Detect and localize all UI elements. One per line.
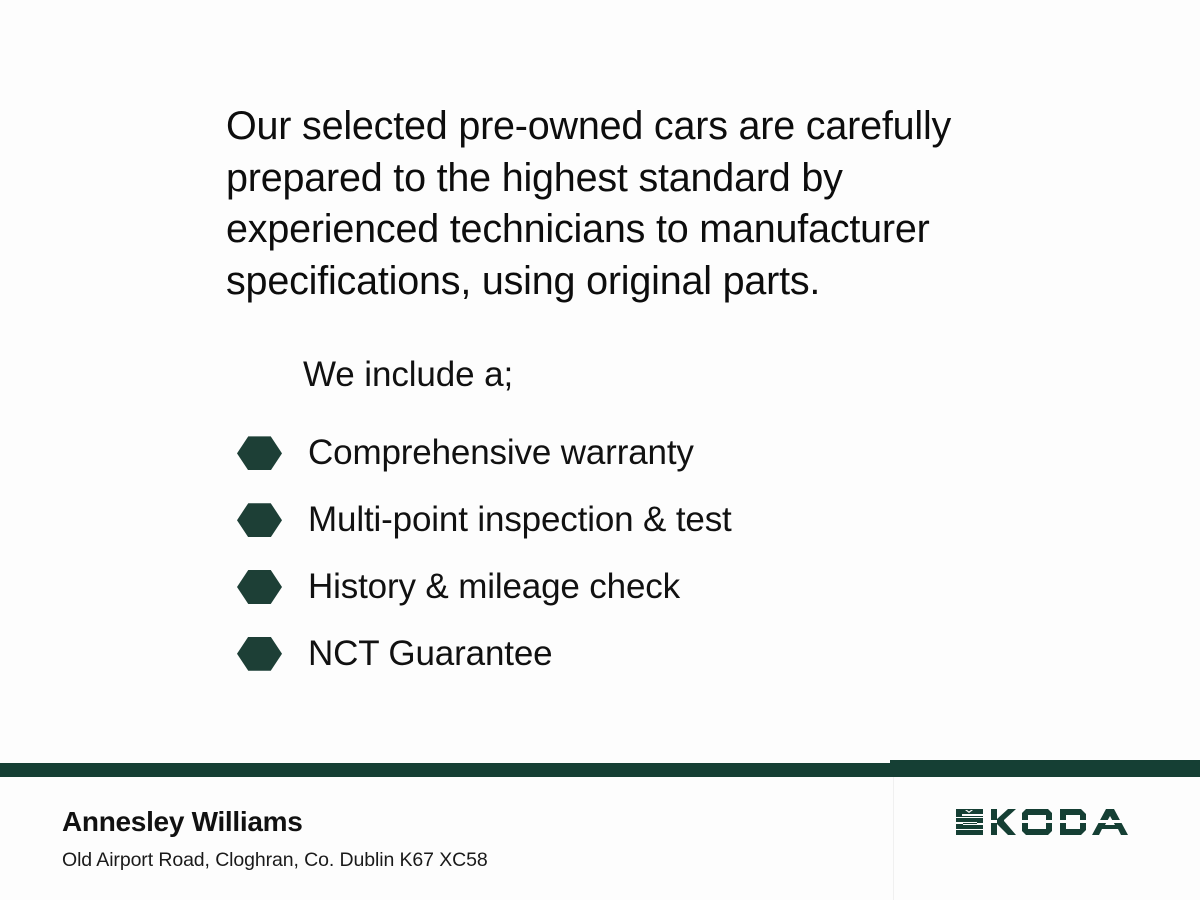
footer-divider (893, 777, 894, 900)
list-item: Comprehensive warranty (232, 420, 992, 487)
benefits-list: Comprehensive warranty Multi-point inspe… (232, 420, 992, 687)
list-item: Multi-point inspection & test (232, 487, 992, 554)
hexagon-bullet-icon (237, 503, 282, 537)
hexagon-bullet-icon (237, 436, 282, 470)
dealer-address: Old Airport Road, Cloghran, Co. Dublin K… (62, 847, 488, 873)
page-title: Our selected pre-owned cars are carefull… (226, 101, 1016, 307)
list-item-label: NCT Guarantee (308, 634, 552, 674)
list-item-label: Multi-point inspection & test (308, 500, 732, 540)
list-item: NCT Guarantee (232, 620, 992, 687)
hexagon-bullet-icon (237, 637, 282, 671)
footer-rule-brand-segment (890, 760, 1200, 777)
list-item-label: History & mileage check (308, 567, 680, 607)
dealer-name: Annesley Williams (62, 804, 303, 840)
list-item: History & mileage check (232, 554, 992, 621)
promo-slide: Our selected pre-owned cars are carefull… (0, 0, 1200, 900)
list-item-label: Comprehensive warranty (308, 433, 694, 473)
skoda-wordmark (952, 802, 1138, 842)
list-intro-label: We include a; (303, 353, 513, 397)
hexagon-bullet-icon (237, 570, 282, 604)
